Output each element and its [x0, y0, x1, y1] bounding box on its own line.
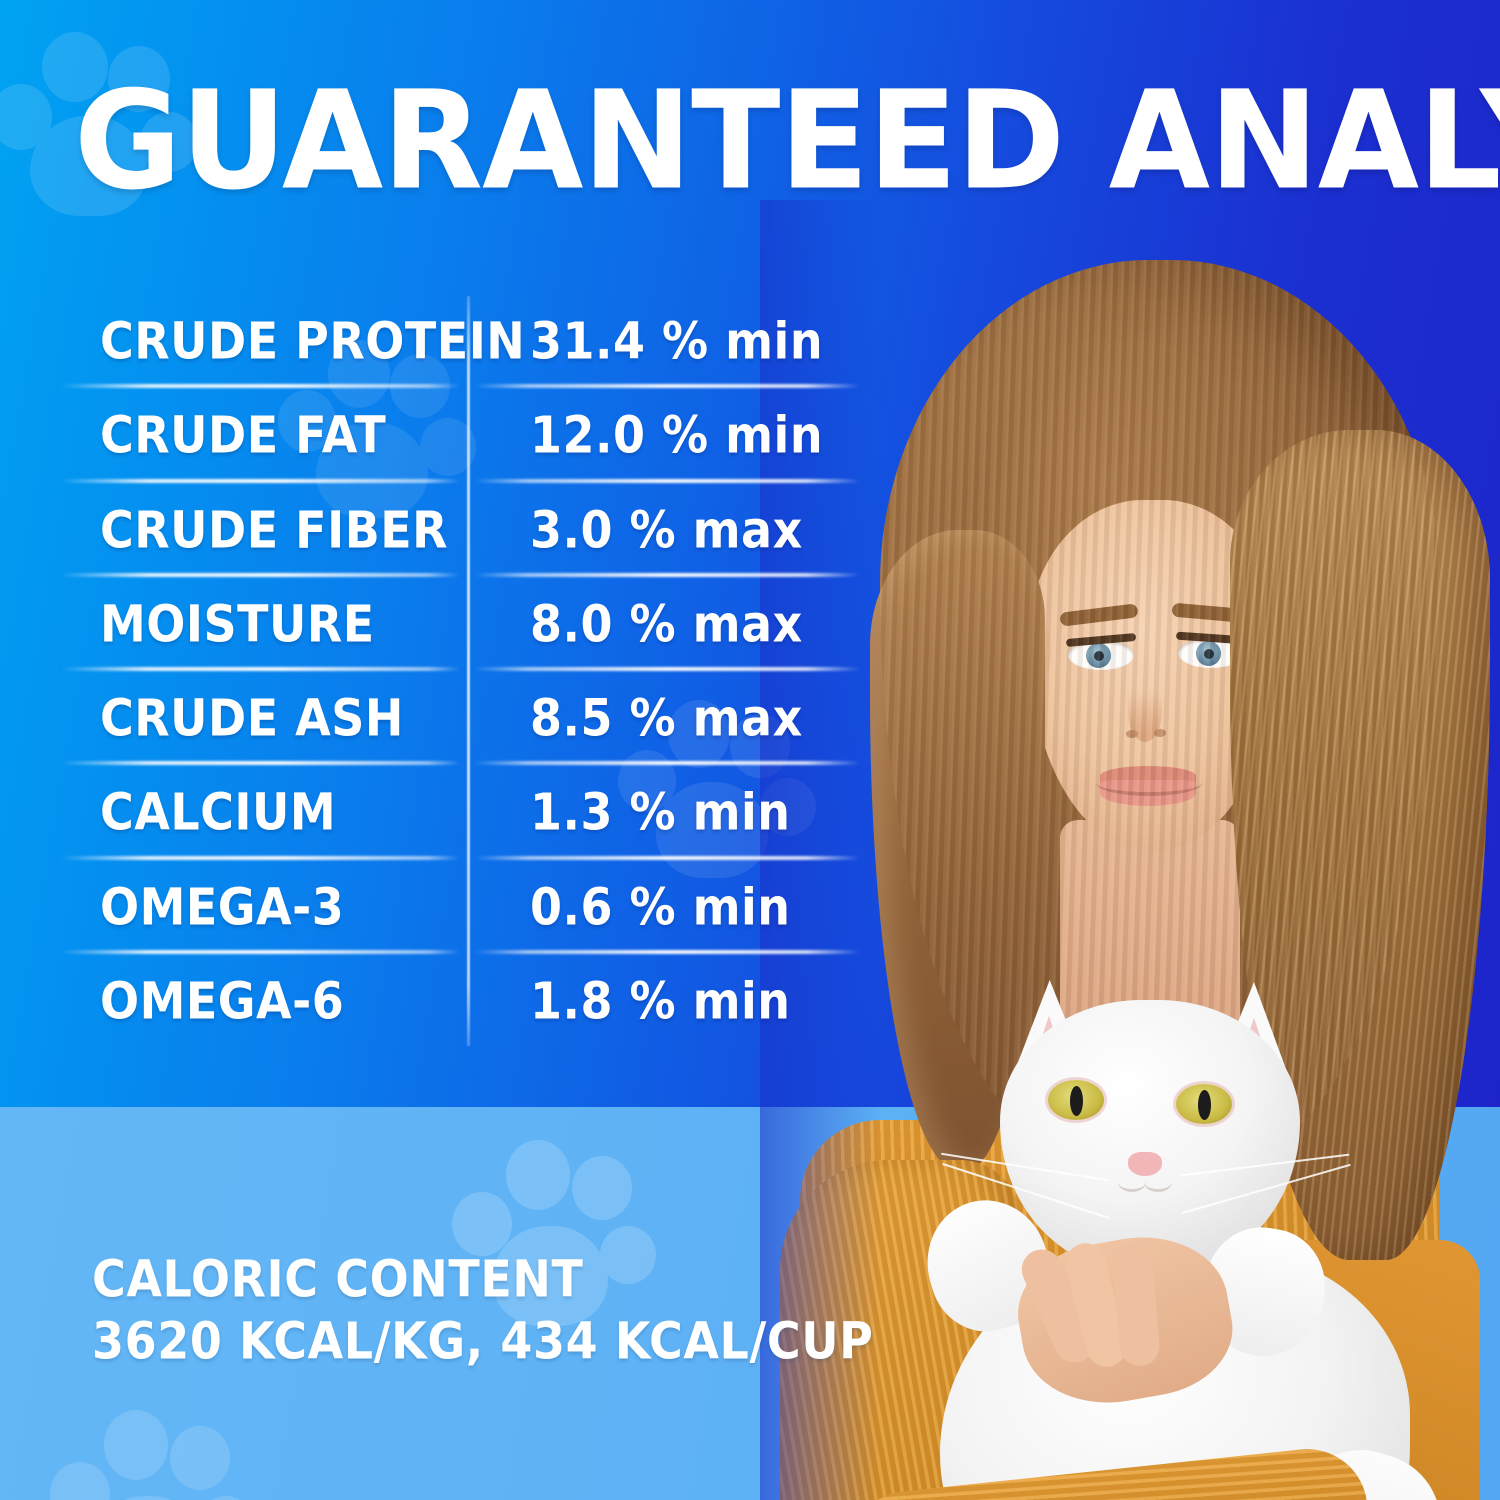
guaranteed-analysis-panel: GUARANTEED ANALYSIS CRUDE PROTEIN 31.4 %… — [0, 0, 1500, 1500]
nutrient-label: CRUDE FAT — [100, 408, 386, 463]
page-title: GUARANTEED ANALYSIS — [74, 72, 1468, 210]
paw-print-icon — [48, 1400, 258, 1500]
caloric-content-block: CALORIC CONTENT 3620 KCAL/KG, 434 KCAL/C… — [92, 1248, 874, 1372]
table-row: OMEGA-3 0.6 % min — [60, 860, 860, 954]
nutrient-value: 31.4 % min — [530, 314, 823, 369]
analysis-table: CRUDE PROTEIN 31.4 % min CRUDE FAT 12.0 … — [60, 294, 860, 1048]
nutrient-label: CRUDE FIBER — [100, 502, 448, 557]
nutrient-value: 12.0 % min — [530, 408, 823, 463]
caloric-content-heading: CALORIC CONTENT — [92, 1245, 874, 1313]
table-row: CRUDE ASH 8.5 % max — [60, 671, 860, 765]
nutrient-label: CALCIUM — [100, 785, 336, 840]
nutrient-value: 8.0 % max — [530, 596, 803, 651]
nutrient-label: OMEGA-6 — [100, 973, 344, 1028]
caloric-content-detail: 3620 KCAL/KG, 434 KCAL/CUP — [92, 1307, 874, 1375]
nutrient-value: 8.5 % max — [530, 691, 803, 746]
table-row: CRUDE FAT 12.0 % min — [60, 388, 860, 482]
nutrient-value: 0.6 % min — [530, 879, 791, 934]
table-row: CRUDE FIBER 3.0 % max — [60, 483, 860, 577]
nutrient-value: 1.3 % min — [530, 785, 791, 840]
nutrient-label: OMEGA-3 — [100, 879, 344, 934]
nutrient-label: MOISTURE — [100, 596, 375, 651]
table-row: MOISTURE 8.0 % max — [60, 577, 860, 671]
nutrient-value: 3.0 % max — [530, 502, 803, 557]
table-row: OMEGA-6 1.8 % min — [60, 954, 860, 1048]
nutrient-label: CRUDE ASH — [100, 691, 404, 746]
nutrient-label: CRUDE PROTEIN — [100, 314, 525, 369]
table-row: CALCIUM 1.3 % min — [60, 765, 860, 859]
nutrient-value: 1.8 % min — [530, 973, 791, 1028]
table-row: CRUDE PROTEIN 31.4 % min — [60, 294, 860, 388]
